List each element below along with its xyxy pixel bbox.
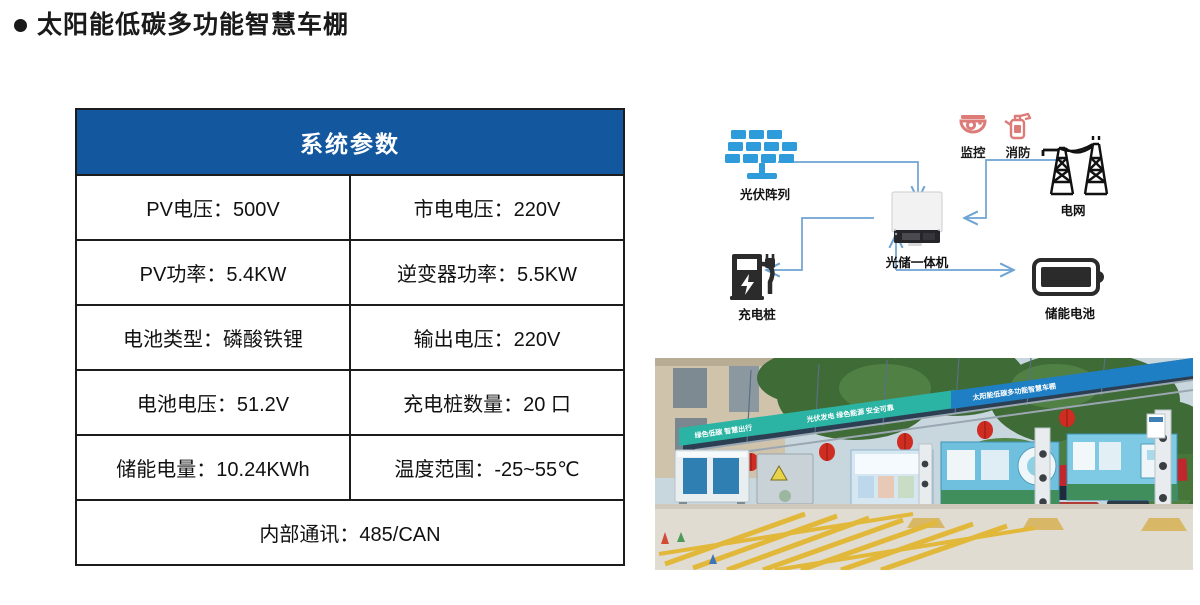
- cell-internal-comm: 内部通讯：485/CAN: [76, 500, 624, 565]
- node-label-inverter: 光储一体机: [862, 257, 972, 271]
- solar-carport-photo: 远 离 邪 教: [655, 358, 1193, 570]
- node-label-solar: 光伏阵列: [710, 189, 820, 203]
- solar-panel-icon: [723, 128, 807, 182]
- table-row: PV功率：5.4KW 逆变器功率：5.5KW: [76, 240, 624, 305]
- cell-charger-count: 充电桩数量：20 口: [350, 370, 624, 435]
- node-label-monitoring: 监控: [957, 147, 989, 161]
- table-header-cell: 系统参数: [76, 109, 624, 175]
- cell-mains-voltage: 市电电压：220V: [350, 175, 624, 240]
- node-solar-array: 光伏阵列: [710, 128, 820, 203]
- cell-output-voltage: 输出电压：220V: [350, 305, 624, 370]
- node-label-charger: 充电桩: [702, 309, 812, 323]
- cell-pv-voltage: PV电压：500V: [76, 175, 350, 240]
- page-title: 太阳能低碳多功能智慧车棚: [14, 13, 349, 38]
- cell-temperature-range: 温度范围：-25~55℃: [350, 435, 624, 500]
- page-title-text: 太阳能低碳多功能智慧车棚: [37, 13, 349, 38]
- table-row: PV电压：500V 市电电压：220V: [76, 175, 624, 240]
- node-label-grid: 电网: [1018, 205, 1128, 219]
- cell-storage-capacity: 储能电量：10.24KWh: [76, 435, 350, 500]
- table-row: 内部通讯：485/CAN: [76, 500, 624, 565]
- cell-battery-voltage: 电池电压：51.2V: [76, 370, 350, 435]
- table-row: 储能电量：10.24KWh 温度范围：-25~55℃: [76, 435, 624, 500]
- charging-pile-icon: [724, 250, 790, 302]
- node-monitoring: 监控: [957, 112, 989, 161]
- table-row: 电池类型：磷酸铁锂 输出电压：220V: [76, 305, 624, 370]
- battery-icon: [1031, 255, 1109, 301]
- node-inverter: 光储一体机: [862, 190, 972, 271]
- table-row: 电池电压：51.2V 充电桩数量：20 口: [76, 370, 624, 435]
- node-label-battery: 储能电池: [1010, 308, 1130, 322]
- cctv-camera-icon: [957, 112, 989, 140]
- power-tower-icon: [1029, 136, 1117, 198]
- table-header-row: 系统参数: [76, 109, 624, 175]
- carport-photo-illustration: 远 离 邪 教: [655, 358, 1193, 570]
- node-storage-battery: 储能电池: [1010, 255, 1130, 322]
- cell-pv-power: PV功率：5.4KW: [76, 240, 350, 305]
- system-flow-diagram: 光伏阵列 监控: [650, 100, 1198, 350]
- node-charging-pile: 充电桩: [702, 250, 812, 323]
- slide-page: 太阳能低碳多功能智慧车棚 系统参数 PV电压：500V 市电电压：220V PV…: [0, 0, 1200, 605]
- inverter-icon: [886, 190, 948, 250]
- cell-battery-type: 电池类型：磷酸铁锂: [76, 305, 350, 370]
- system-parameters-table: 系统参数 PV电压：500V 市电电压：220V PV功率：5.4KW 逆变器功…: [75, 108, 625, 566]
- cell-inverter-power: 逆变器功率：5.5KW: [350, 240, 624, 305]
- bullet-icon: [14, 19, 27, 32]
- node-power-grid: 电网: [1018, 136, 1128, 219]
